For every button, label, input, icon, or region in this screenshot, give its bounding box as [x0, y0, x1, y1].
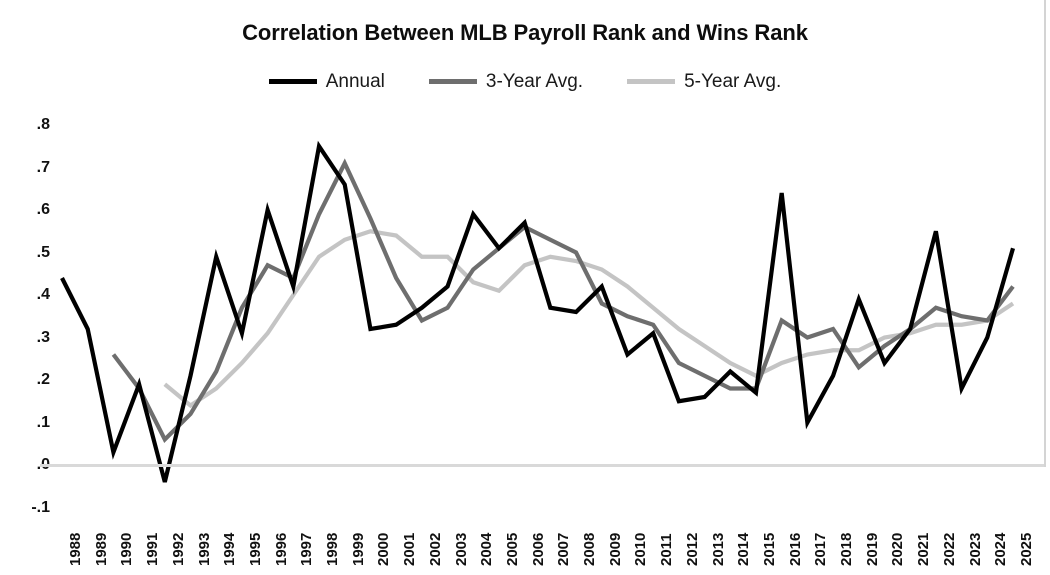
x-axis-tick-label: 2008 [582, 533, 597, 566]
y-axis-tick-label: .5 [14, 245, 50, 261]
y-axis-tick-label: .4 [14, 287, 50, 303]
x-axis-tick-label: 2024 [993, 533, 1008, 566]
x-axis-tick-label: 2025 [1019, 533, 1034, 566]
x-axis-tick-label: 2013 [711, 533, 726, 566]
x-axis-tick-label: 2021 [916, 533, 931, 566]
y-axis-tick-label: .6 [14, 202, 50, 218]
x-axis-tick-label: 1989 [94, 533, 109, 566]
zero-baseline [40, 464, 1045, 467]
x-axis-tick-label: 2006 [531, 533, 546, 566]
plot-right-border [1044, 0, 1046, 467]
x-axis-tick-label: 2019 [865, 533, 880, 566]
x-axis-tick-label: 1991 [145, 533, 160, 566]
x-axis-tick-label: 1993 [197, 533, 212, 566]
plot-area: .8.7.6.5.4.3.2.1.0-.11988198919901991199… [0, 0, 1050, 575]
y-axis-tick-label: .1 [14, 415, 50, 431]
x-axis-tick-label: 2022 [942, 533, 957, 566]
x-axis-tick-label: 1992 [171, 533, 186, 566]
x-axis-tick-label: 1990 [119, 533, 134, 566]
x-axis-tick-label: 2005 [505, 533, 520, 566]
y-axis-tick-label: .7 [14, 160, 50, 176]
series-line-annual [62, 146, 1013, 482]
x-axis-tick-label: 1999 [351, 533, 366, 566]
x-axis-tick-label: 1997 [299, 533, 314, 566]
x-axis-tick-label: 2023 [968, 533, 983, 566]
y-axis-tick-label: .2 [14, 372, 50, 388]
x-axis-tick-label: 2015 [762, 533, 777, 566]
y-axis-tick-label: .3 [14, 330, 50, 346]
x-axis-tick-label: 2018 [839, 533, 854, 566]
x-axis-tick-label: 2004 [479, 533, 494, 566]
x-axis-tick-label: 2003 [454, 533, 469, 566]
y-axis-tick-label: -.1 [14, 500, 50, 516]
x-axis-tick-label: 1996 [274, 533, 289, 566]
x-axis-tick-label: 1998 [325, 533, 340, 566]
chart-container: Correlation Between MLB Payroll Rank and… [0, 0, 1050, 575]
x-axis-tick-label: 2020 [890, 533, 905, 566]
x-axis-tick-label: 2007 [556, 533, 571, 566]
x-axis-tick-label: 2016 [788, 533, 803, 566]
x-axis-tick-label: 1994 [222, 533, 237, 566]
x-axis-tick-label: 2017 [813, 533, 828, 566]
x-axis-tick-label: 2012 [685, 533, 700, 566]
x-axis-tick-label: 2011 [659, 533, 674, 566]
x-axis-tick-label: 2009 [608, 533, 623, 566]
x-axis-tick-label: 1988 [68, 533, 83, 566]
x-axis-tick-label: 2002 [428, 533, 443, 566]
series-lines [0, 0, 1050, 575]
x-axis-tick-label: 2001 [402, 533, 417, 566]
series-line-5-year-avg [165, 231, 1013, 405]
x-axis-tick-label: 2014 [736, 533, 751, 566]
x-axis-tick-label: 2000 [376, 533, 391, 566]
x-axis-tick-label: 1995 [248, 533, 263, 566]
x-axis-tick-label: 2010 [633, 533, 648, 566]
y-axis-tick-label: .8 [14, 117, 50, 133]
